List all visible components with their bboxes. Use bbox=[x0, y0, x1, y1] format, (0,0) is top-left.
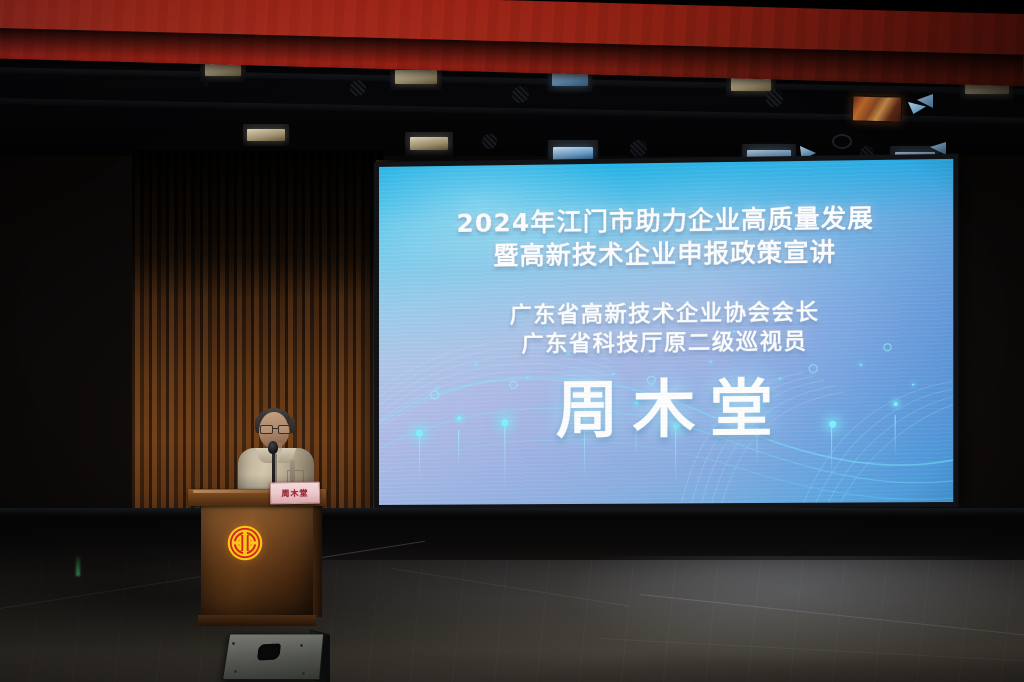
floor-light-pool bbox=[560, 556, 1024, 676]
glasses-icon bbox=[260, 425, 289, 432]
light-beam-reflection bbox=[908, 102, 926, 114]
speaker-grille bbox=[630, 140, 647, 157]
slide-title-line2: 暨高新技术企业申报政策宣讲 bbox=[493, 236, 836, 273]
podium-body bbox=[201, 505, 313, 617]
podium-base bbox=[198, 615, 316, 626]
microphone-icon bbox=[268, 441, 278, 454]
podium-side-panel bbox=[313, 505, 322, 617]
curtain-shadow bbox=[132, 150, 384, 300]
stage-apron-edge bbox=[0, 508, 1024, 516]
nameplate-text: 周木堂 bbox=[281, 487, 308, 498]
speaker-grille bbox=[350, 80, 366, 96]
stage-light-fixture bbox=[405, 132, 453, 156]
speaker-grille bbox=[482, 134, 497, 149]
screen-surface: 2024年江门市助力企业高质量发展 暨高新技术企业申报政策宣讲 广东省高新技术企… bbox=[379, 159, 953, 505]
speaker-nameplate: 周木堂 bbox=[270, 482, 320, 505]
slide-speaker-name: 周木堂 bbox=[542, 375, 788, 442]
podium: 周木堂 bbox=[188, 489, 326, 629]
floor-wedge-monitor bbox=[222, 626, 330, 682]
slide-subtitle-line2: 广东省科技厅原二级巡视员 bbox=[521, 328, 807, 360]
slide-subtitle-line1: 广东省高新技术企业协会会长 bbox=[510, 298, 820, 331]
green-floor-light bbox=[76, 554, 80, 576]
speaker-grille bbox=[766, 90, 783, 107]
stage-light-fixture bbox=[243, 124, 289, 146]
projection-screen: 2024年江门市助力企业高质量发展 暨高新技术企业申报政策宣讲 广东省高新技术企… bbox=[374, 154, 958, 510]
overhead-monitor-panel bbox=[852, 95, 903, 122]
light-ring bbox=[832, 134, 852, 149]
slide-content: 2024年江门市助力企业高质量发展 暨高新技术企业申报政策宣讲 广东省高新技术企… bbox=[379, 159, 953, 505]
stage-photo: 2024年江门市助力企业高质量发展 暨高新技术企业申报政策宣讲 广东省高新技术企… bbox=[0, 0, 1024, 682]
speaker-grille bbox=[512, 86, 529, 103]
slide-title-line1: 2024年江门市助力企业高质量发展 bbox=[456, 203, 874, 241]
acftu-union-emblem-icon bbox=[227, 525, 263, 561]
